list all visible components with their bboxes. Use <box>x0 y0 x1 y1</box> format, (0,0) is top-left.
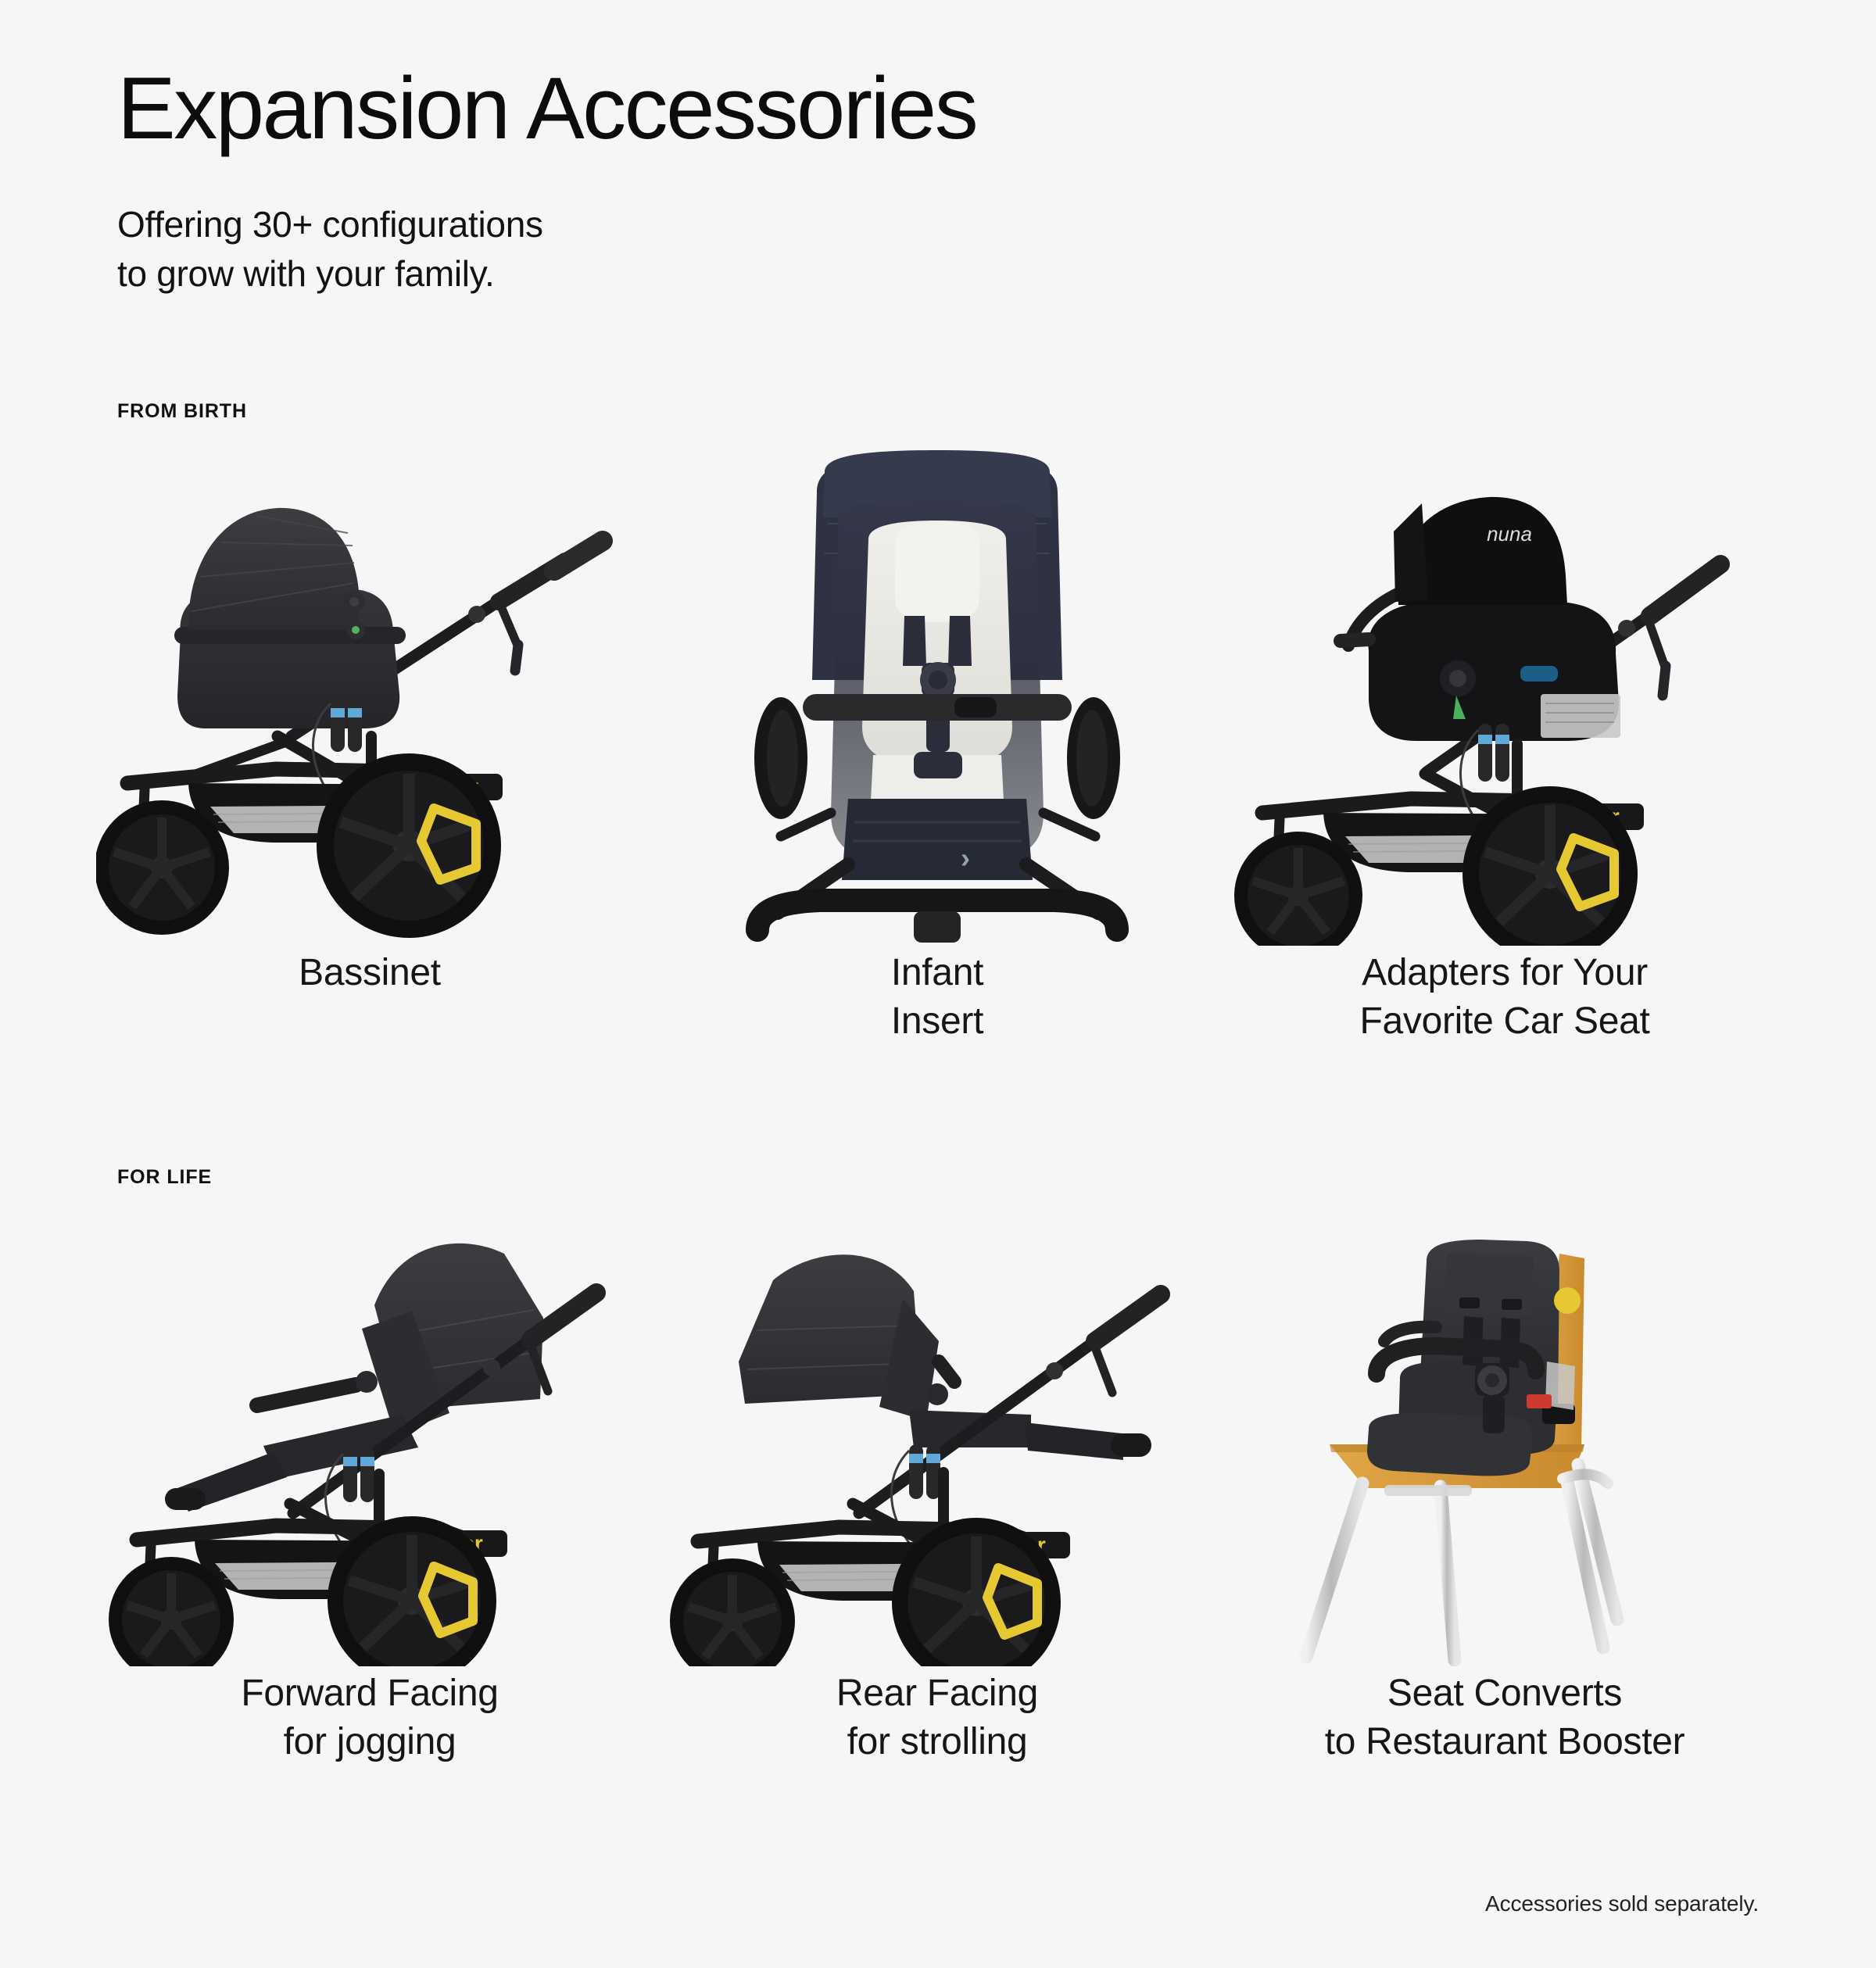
subtitle-line-1: Offering 30+ configurations <box>117 200 976 249</box>
accessory-caption: Forward Facing for jogging <box>241 1669 498 1766</box>
page-subtitle: Offering 30+ configurations to grow with… <box>117 200 976 299</box>
accessory-caption: Rear Facing for strolling <box>836 1669 1038 1766</box>
bassinet-image: veer <box>96 445 643 946</box>
accessory-card-infant-insert[interactable]: › Infant Insert <box>653 445 1221 1046</box>
accessory-card-forward-facing[interactable]: veer <box>86 1213 653 1766</box>
accessory-caption: Infant Insert <box>891 949 983 1046</box>
subtitle-line-2: to grow with your family. <box>117 249 976 299</box>
accessory-card-car-seat-adapters[interactable]: nuna <box>1221 445 1788 1046</box>
accessory-card-rear-facing[interactable]: veer <box>653 1213 1221 1766</box>
booster-strap-knob <box>1554 1287 1581 1314</box>
accessory-caption: Adapters for Your Favorite Car Seat <box>1359 949 1649 1046</box>
accessory-card-bassinet[interactable]: veer <box>86 445 653 1046</box>
section-for-life-grid: veer <box>86 1213 1790 1766</box>
restaurant-booster-image <box>1231 1213 1778 1666</box>
infant-insert-image: › <box>664 445 1211 946</box>
expansion-accessories-page: Expansion Accessories Offering 30+ confi… <box>0 0 1876 1968</box>
page-title: Expansion Accessories <box>117 63 976 155</box>
section-label-from-birth: FROM BIRTH <box>117 400 247 423</box>
nuna-logo-text: nuna <box>1487 522 1532 546</box>
accessory-card-restaurant-booster[interactable]: Seat Converts to Restaurant Booster <box>1221 1213 1788 1766</box>
forward-facing-image: veer <box>96 1213 643 1666</box>
accessory-caption: Bassinet <box>299 949 441 997</box>
veer-chevron-mark: › <box>961 842 970 874</box>
car-seat-adapters-image: nuna <box>1231 445 1778 946</box>
footnote-accessories-sold-separately: Accessories sold separately. <box>1485 1891 1759 1916</box>
accessory-caption: Seat Converts to Restaurant Booster <box>1325 1669 1685 1766</box>
header: Expansion Accessories Offering 30+ confi… <box>117 63 976 299</box>
section-from-birth-grid: veer <box>86 445 1790 1046</box>
rear-facing-image: veer <box>664 1213 1211 1666</box>
section-label-for-life: FOR LIFE <box>117 1166 212 1189</box>
